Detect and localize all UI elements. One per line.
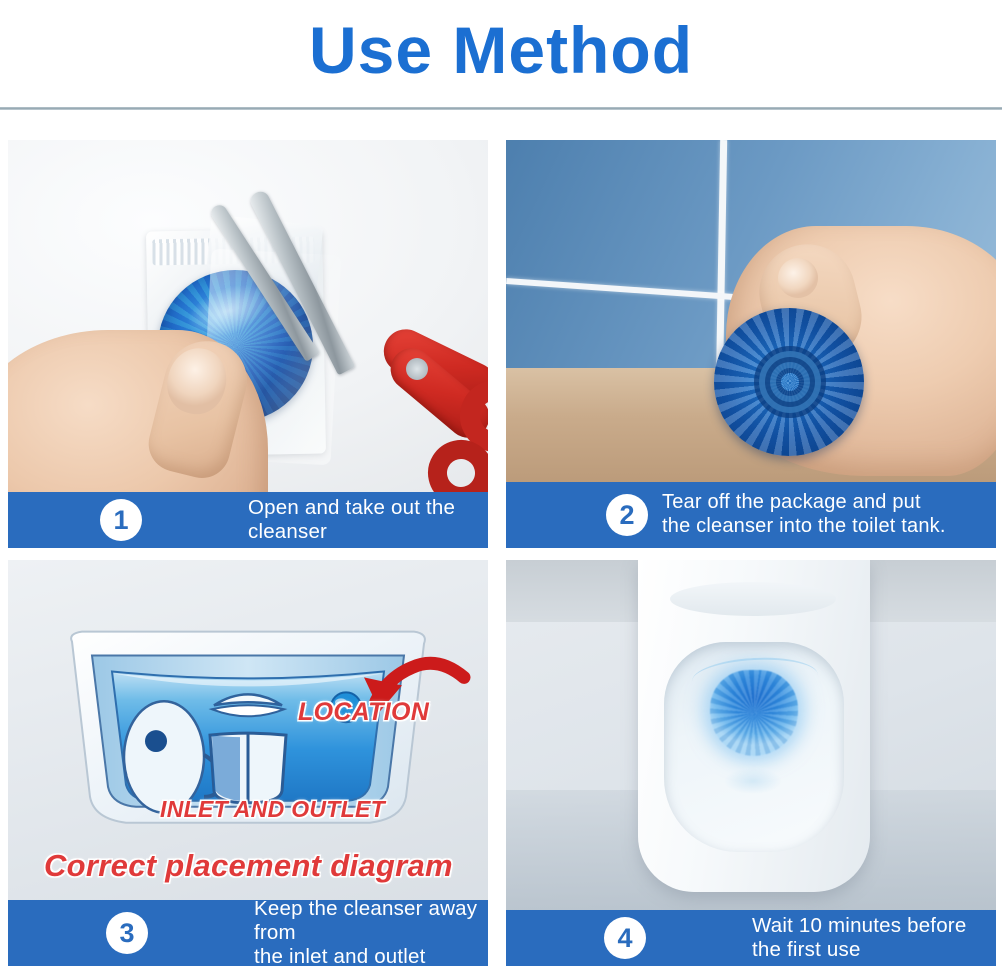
header-divider bbox=[0, 107, 1002, 110]
step-1-caption-text: Open and take out the cleanser bbox=[248, 496, 488, 544]
diagram-label-inlet-outlet: INLET AND OUTLET bbox=[160, 796, 385, 823]
step-4-caption-bar: 4 Wait 10 minutes before the first use bbox=[506, 910, 996, 966]
step-4-number-badge: 4 bbox=[604, 917, 646, 959]
step-3-caption-bar: 3 Keep the cleanser away from the inlet … bbox=[8, 900, 488, 966]
toilet-lid-top bbox=[670, 582, 836, 616]
step-4-caption-text: Wait 10 minutes before the first use bbox=[752, 914, 996, 962]
header: Use Method bbox=[0, 0, 1002, 110]
step-1-caption-bar: 1 Open and take out the cleanser bbox=[8, 492, 488, 548]
step-panel-4: 4 Wait 10 minutes before the first use bbox=[506, 560, 996, 966]
step-4-photo bbox=[506, 560, 996, 966]
step-1-photo bbox=[8, 140, 488, 548]
step-panel-1: 1 Open and take out the cleanser bbox=[8, 140, 488, 548]
step-3-number-badge: 3 bbox=[106, 912, 148, 954]
step-panel-2: 2 Tear off the package and put the clean… bbox=[506, 140, 996, 548]
bowl-drain-highlight bbox=[724, 768, 782, 794]
diagram-title-correct-placement: Correct placement diagram bbox=[44, 848, 453, 884]
diagram-label-location: LOCATION bbox=[298, 698, 429, 727]
puck-spiral-pattern bbox=[754, 346, 826, 418]
page-title: Use Method bbox=[309, 17, 693, 93]
step-2-number-badge: 2 bbox=[606, 494, 648, 536]
use-method-infographic: Use Method bbox=[0, 0, 1002, 972]
float-pivot bbox=[145, 730, 167, 752]
step-2-caption-bar: 2 Tear off the package and put the clean… bbox=[506, 482, 996, 548]
steps-grid: 1 Open and take out the cleanser bbox=[8, 140, 996, 966]
step-3-caption-text: Keep the cleanser away from the inlet an… bbox=[254, 897, 488, 966]
blue-water bbox=[710, 670, 798, 756]
step-1-number-badge: 1 bbox=[100, 499, 142, 541]
step-panel-3: LOCATION INLET AND OUTLET Correct placem… bbox=[8, 560, 488, 966]
step-2-caption-text: Tear off the package and put the cleanse… bbox=[662, 491, 946, 538]
scissors-pivot-screw bbox=[406, 358, 428, 380]
flush-valve-shade bbox=[212, 735, 240, 801]
